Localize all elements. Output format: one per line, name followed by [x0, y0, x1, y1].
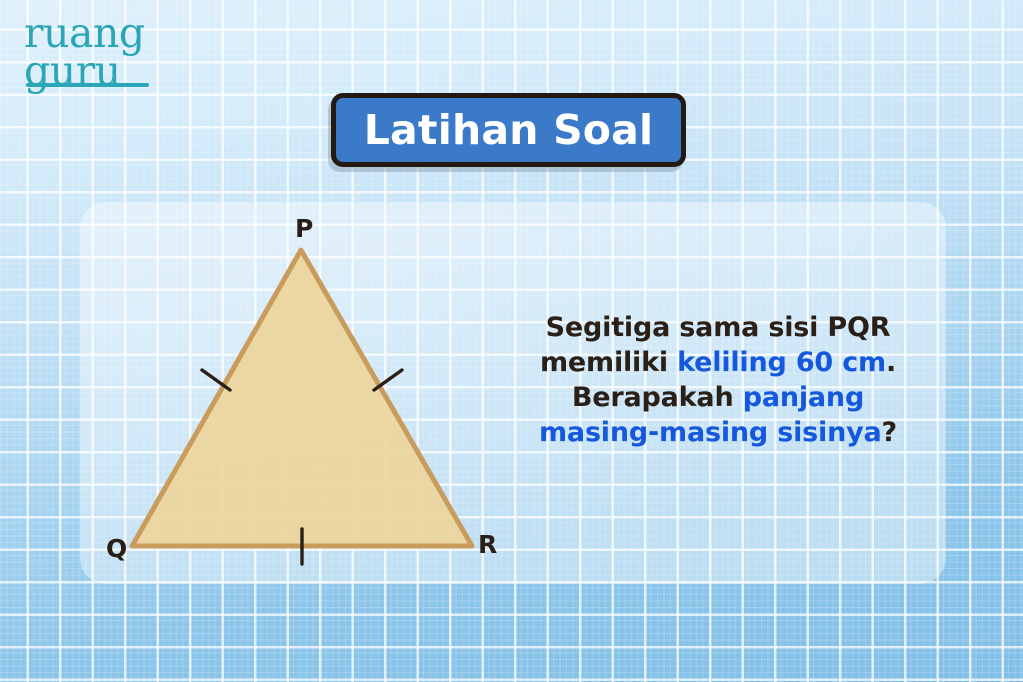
- question-highlight-length: panjang: [743, 382, 864, 413]
- logo-line-2-wrap: guru: [24, 52, 121, 90]
- question-line-1: Segitiga sama sisi PQR: [512, 310, 924, 345]
- slide-canvas: ruang guru Latihan Soal P Q R Segitiga s…: [0, 0, 1023, 682]
- vertex-label-q: Q: [106, 536, 127, 561]
- triangle-svg: [80, 202, 550, 584]
- question-highlight-sides: masing-masing sisinya: [539, 417, 882, 448]
- question-text: Segitiga sama sisi PQR memiliki keliling…: [512, 310, 924, 450]
- triangle-shape: [132, 250, 472, 546]
- question-highlight-perimeter: keliling 60 cm: [677, 347, 886, 378]
- vertex-label-p: P: [295, 216, 313, 241]
- triangle-figure: P Q R: [80, 202, 550, 584]
- question-line-1-text: Segitiga sama sisi PQR: [546, 312, 891, 343]
- question-line-2-text: memiliki: [540, 347, 677, 378]
- page-title: Latihan Soal: [364, 106, 654, 154]
- vertex-label-r: R: [478, 532, 497, 557]
- question-line-3-text: Berapakah: [572, 382, 743, 413]
- question-line-2: memiliki keliling 60 cm.: [512, 345, 924, 380]
- question-line-3: Berapakah panjang: [512, 380, 924, 415]
- question-line-4-tail: ?: [882, 417, 897, 448]
- question-line-2-tail: .: [886, 347, 896, 378]
- question-line-4: masing-masing sisinya?: [512, 415, 924, 450]
- logo-underline-mark: [26, 83, 149, 87]
- ruangguru-logo[interactable]: ruang guru: [24, 14, 174, 94]
- logo-line-2: guru: [24, 47, 121, 95]
- title-banner: Latihan Soal: [331, 93, 686, 167]
